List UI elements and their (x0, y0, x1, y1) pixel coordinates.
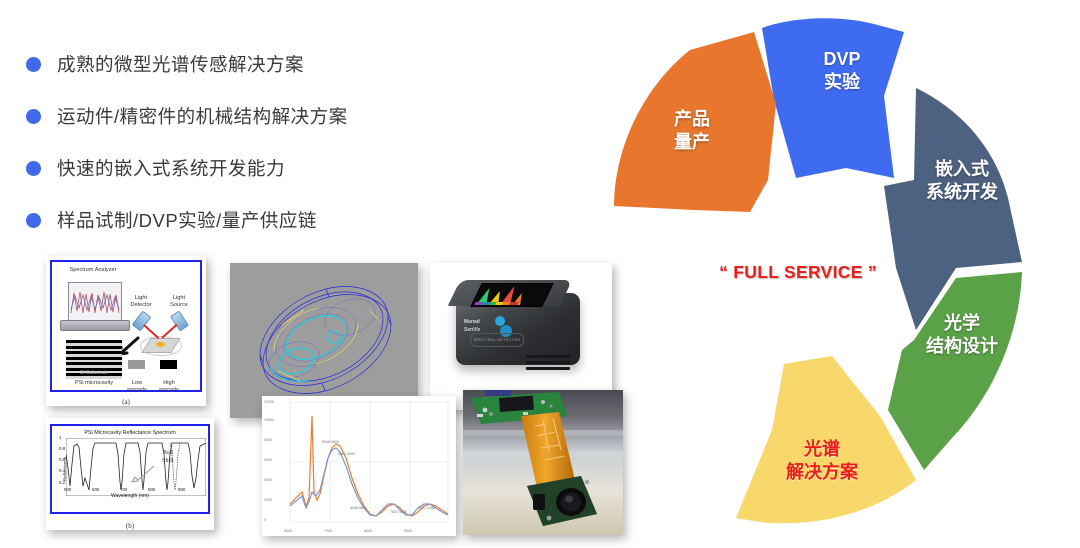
low-porosity-swatch (128, 360, 145, 369)
device-brand-line1: Manad (464, 319, 480, 326)
bullet-dot-icon (26, 213, 41, 228)
list-item-label: 快速的嵌入式系统开发能力 (57, 155, 285, 181)
device-vent-slot (526, 355, 570, 358)
list-item: 快速的嵌入式系统开发能力 (26, 142, 486, 194)
list-item: 成熟的微型光谱传感解决方案 (26, 38, 486, 90)
device-spectrum-display (470, 283, 554, 307)
laptop-base (60, 320, 130, 331)
bullet-dot-icon (26, 161, 41, 176)
red-shift-annotation: Red Shift (152, 450, 184, 466)
figure-caption-a: (a) (46, 398, 206, 406)
list-item-label: 运动件/精密件的机械结构解决方案 (57, 103, 348, 129)
list-item-label: 样品试制/DVP实验/量产供应链 (57, 207, 317, 233)
chart-x-tick: 7000 (324, 529, 332, 533)
sample-spot-icon (156, 342, 165, 347)
spectrum-x-tick: 900 (178, 487, 185, 492)
list-item-label: 成熟的微型光谱传感解决方案 (57, 51, 304, 77)
psi-spectrum-figure: PSi Microcavity Reflectance Spectrum Ref… (46, 418, 214, 530)
figure-border: Spectrum Analyzer Light Detector Light S… (50, 260, 202, 392)
chart-y-tick: 12000 (264, 400, 274, 404)
psi-multilayer-stack: Si Substrate (66, 340, 122, 378)
spectrum-x-tick: 600 (92, 487, 99, 492)
reflectance-comparison-chart: 12000 10000 8000 6000 4000 2000 0 6000 7… (262, 396, 456, 536)
laptop-screen-icon (68, 282, 122, 322)
chart-x-tick: 6000 (284, 529, 292, 533)
chart-y-tick: 6000 (264, 458, 272, 462)
spectrum-graph-icon (472, 284, 553, 306)
high-porosity-swatch (160, 360, 177, 369)
device-model-badge: SPECTRAL DETECTOR (470, 333, 524, 347)
light-source-label: Light Source (164, 295, 194, 309)
figure-border: PSi Microcavity Reflectance Spectrum Ref… (50, 424, 210, 514)
chart-data-label: 6663.2653 (338, 452, 355, 456)
list-item: 样品试制/DVP实验/量产供应链 (26, 194, 486, 246)
bullet-dot-icon (26, 109, 41, 124)
chart-data-label: 8086.8631 (350, 506, 367, 510)
spectrum-chart-title: PSi Microcavity Reflectance Spectrum (52, 430, 208, 436)
chart-data-label: 9661.1486 (418, 506, 435, 510)
spectrum-analyzer-label: Spectrum Analyzer (60, 267, 126, 274)
list-item: 运动件/精密件的机械结构解决方案 (26, 90, 486, 142)
psi-microcavity-label: PSi microcavity (66, 380, 122, 387)
segment-massprod[interactable] (614, 32, 776, 212)
light-detector-label: Light Detector (126, 295, 156, 309)
spectrum-y-tick: 1 (59, 435, 61, 440)
feature-bullet-list: 成熟的微型光谱传感解决方案 运动件/精密件的机械结构解决方案 快速的嵌入式系统开… (26, 38, 486, 246)
cad-wireframe-photo (230, 263, 418, 418)
chart-data-label: 6546.9803 (322, 440, 339, 444)
chart-y-tick: 4000 (264, 478, 272, 482)
figure-caption-b: (b) (46, 522, 214, 530)
psi-schematic-figure: Spectrum Analyzer Light Detector Light S… (46, 256, 206, 406)
spectrum-x-tick: 700 (120, 487, 127, 492)
chart-y-tick: 10000 (264, 418, 274, 422)
bullet-dot-icon (26, 57, 41, 72)
segment-dvp-shape[interactable] (762, 18, 904, 178)
chart-x-tick: 9000 (404, 529, 412, 533)
chart-y-tick: 8000 (264, 438, 272, 442)
line-chart-plot (262, 396, 456, 536)
low-porosity-label: Low porosity (122, 380, 152, 394)
chart-data-label: 7867.4176 (390, 510, 407, 514)
spectrum-x-tick: 800 (148, 487, 155, 492)
spectrum-y-tick: 0.2 (59, 480, 65, 485)
full-service-caption: “ FULL SERVICE ” (703, 262, 893, 283)
spectrum-y-tick: 0.6 (59, 457, 65, 462)
cad-mesh-icon (230, 263, 418, 418)
chart-y-tick: 2000 (264, 498, 272, 502)
spectrum-x-tick: 500 (64, 487, 71, 492)
device-vent-slot (526, 361, 570, 364)
chart-x-tick: 8000 (364, 529, 372, 533)
spectrum-y-tick: 0.4 (59, 468, 65, 473)
high-porosity-label: High porosity (154, 380, 184, 394)
spectrum-x-axis-label: Wavelength (nm) (52, 493, 208, 499)
red-shift-arrow-icon (130, 464, 156, 484)
substrate-label: Si Substrate (66, 370, 122, 376)
device-model-label: SPECTRAL DETECTOR (471, 334, 523, 346)
spectrum-y-tick: 0.8 (59, 446, 65, 451)
chart-y-tick: 0 (264, 518, 266, 522)
device-vent-slot (526, 367, 570, 370)
segment-spectrum[interactable] (736, 356, 916, 523)
